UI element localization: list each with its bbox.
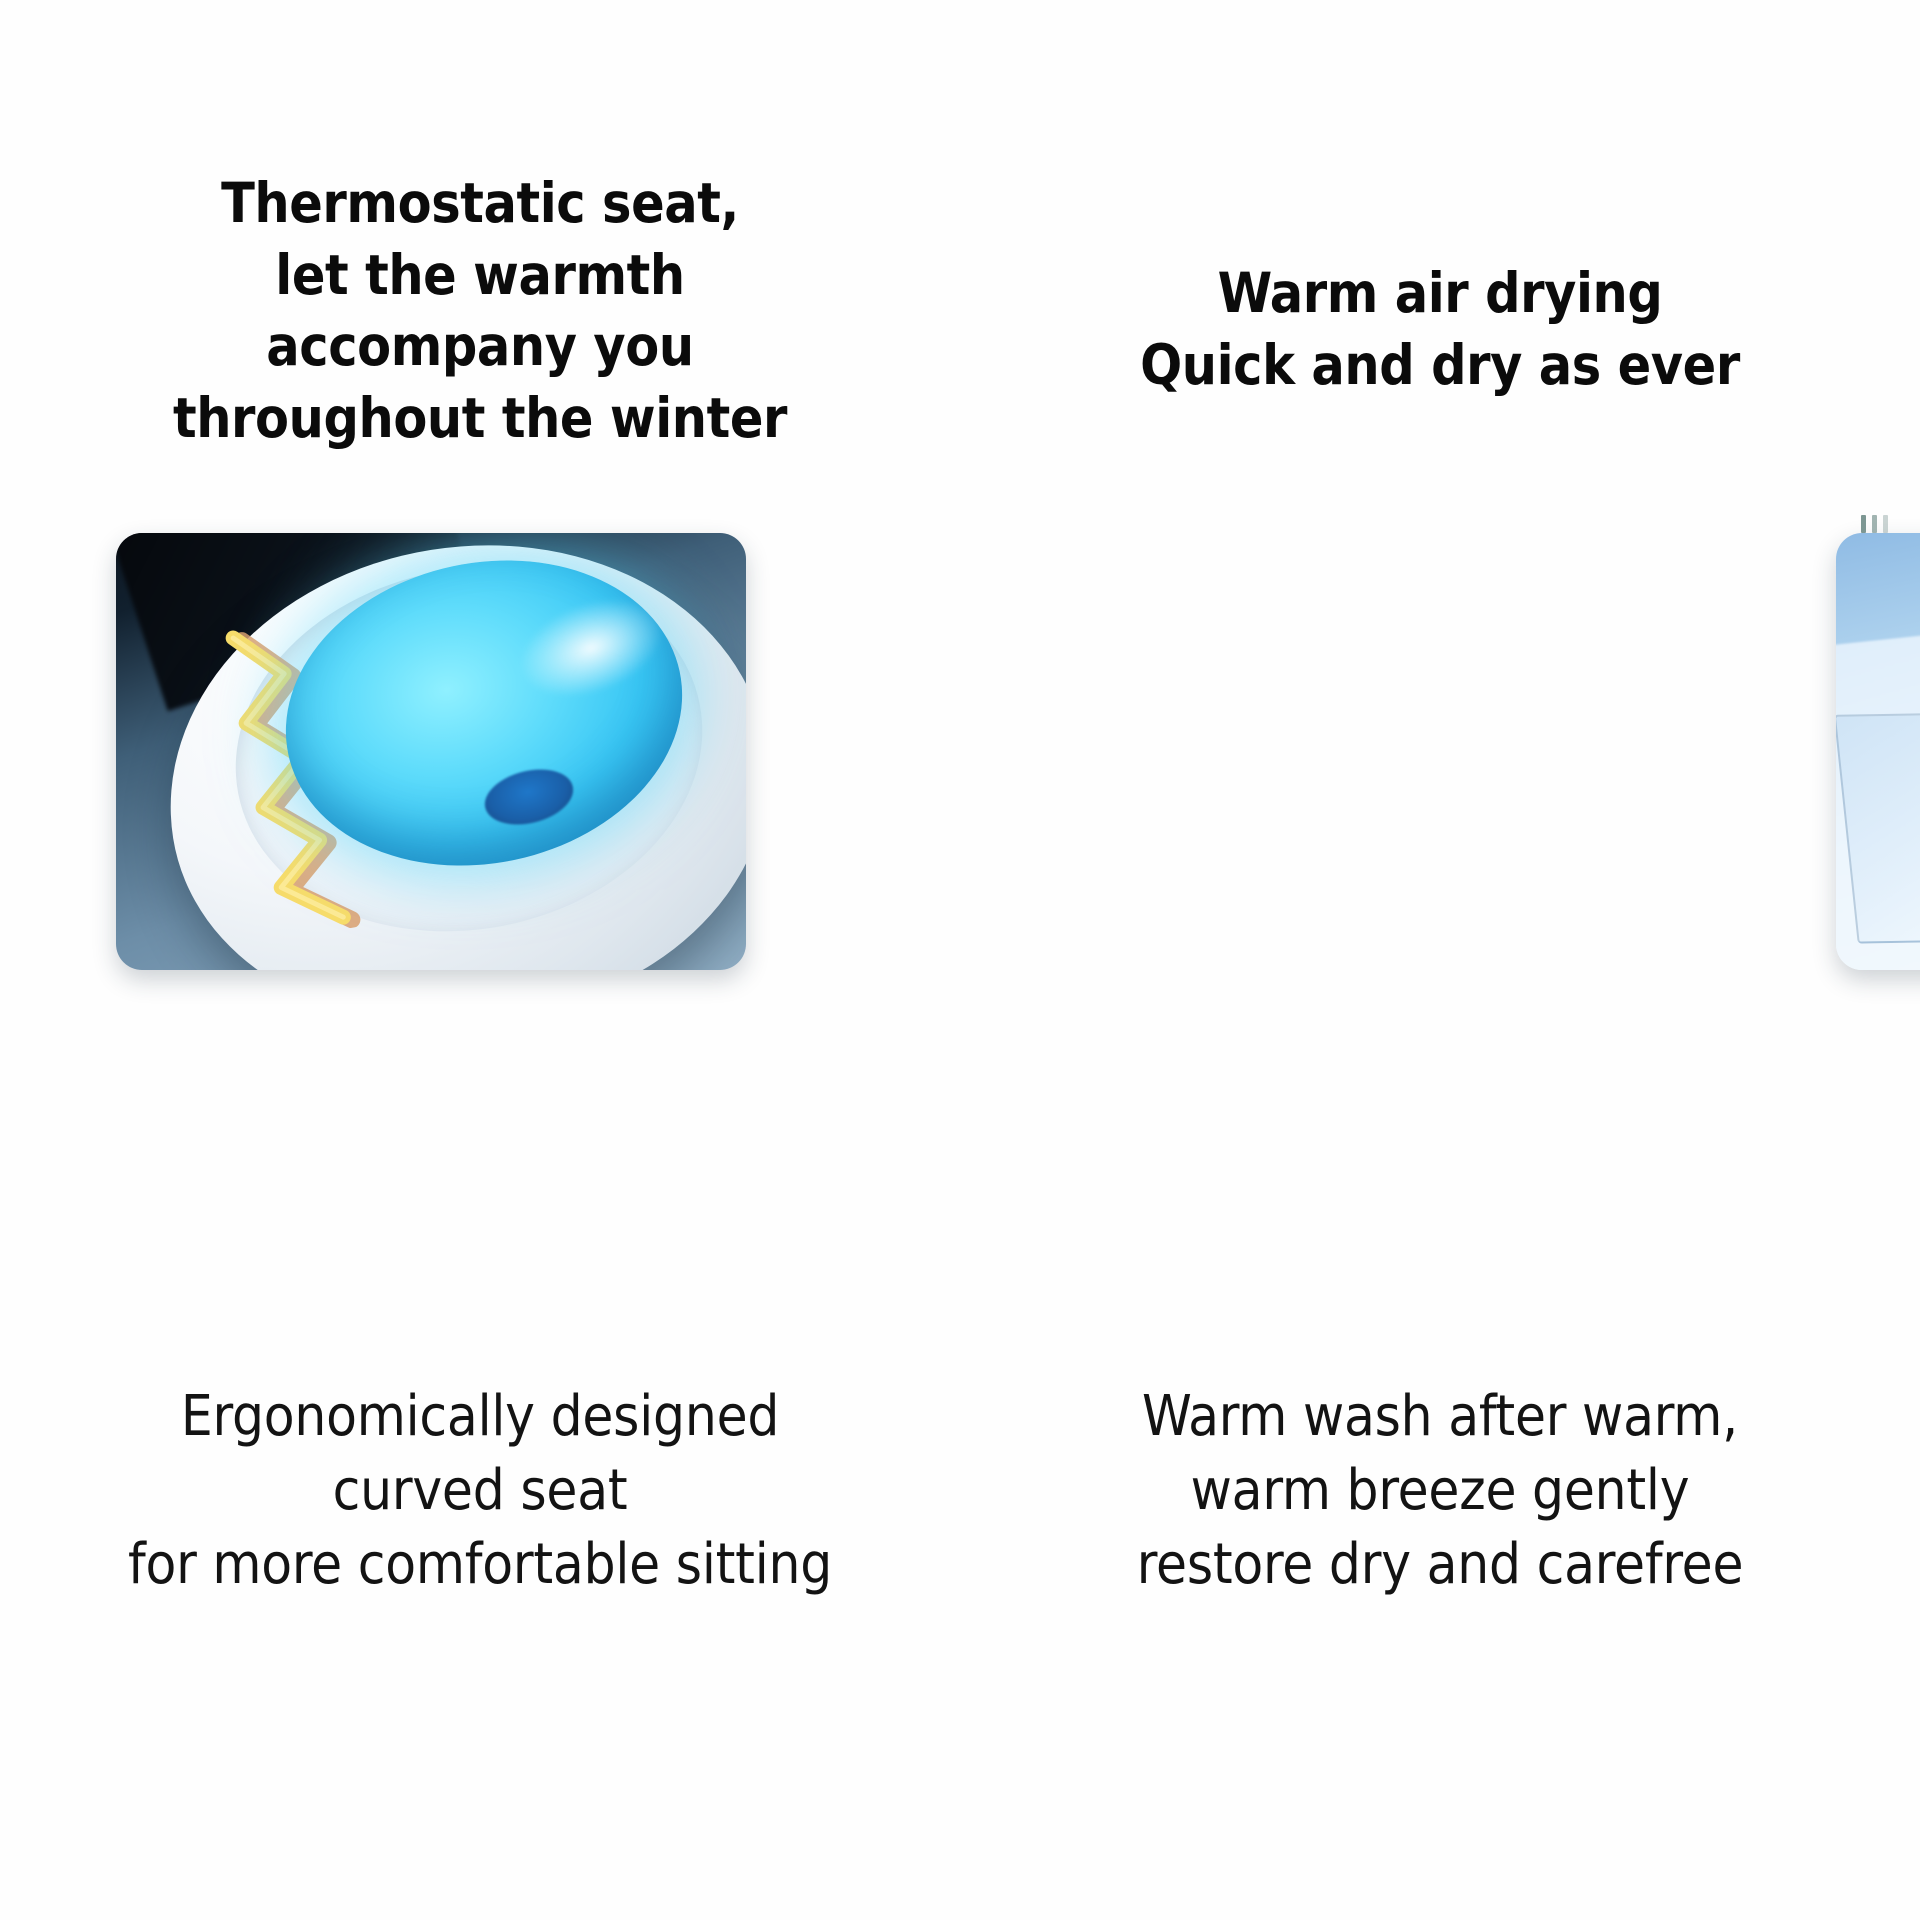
bar-2 xyxy=(1872,515,1877,533)
left-caption: Ergonomically designed curved seat for m… xyxy=(0,1380,960,1602)
left-heading-line-2: let the warmth xyxy=(60,240,900,312)
left-caption-line-3: for more comfortable sitting xyxy=(40,1528,920,1602)
left-heading-line-4: throughout the winter xyxy=(60,383,900,455)
left-caption-line-2: curved seat xyxy=(40,1454,920,1528)
right-feature-panel: Warm air drying Quick and dry as ever xyxy=(960,0,1920,1920)
right-heading: Warm air drying Quick and dry as ever xyxy=(960,258,1920,401)
left-feature-panel: Thermostatic seat, let the warmth accomp… xyxy=(0,0,960,1920)
promo-page: Thermostatic seat, let the warmth accomp… xyxy=(0,0,1920,1920)
heated-seat-image-card xyxy=(116,533,746,970)
left-heading-line-3: accompany you xyxy=(60,311,900,383)
right-caption: Warm wash after warm, warm breeze gently… xyxy=(960,1380,1920,1602)
three-bars-mark-icon xyxy=(1861,515,1888,533)
right-caption-line-1: Warm wash after warm, xyxy=(1000,1380,1880,1454)
bar-3 xyxy=(1883,515,1888,533)
left-heading: Thermostatic seat, let the warmth accomp… xyxy=(0,168,960,454)
left-caption-line-1: Ergonomically designed xyxy=(40,1380,920,1454)
right-caption-line-2: warm breeze gently xyxy=(1000,1454,1880,1528)
airflow-streams-icon xyxy=(1906,563,1920,970)
warm-air-dryer-image-card xyxy=(1836,533,1920,970)
right-heading-line-1: Warm air drying xyxy=(1000,258,1880,330)
left-heading-line-1: Thermostatic seat, xyxy=(60,168,900,240)
bar-1 xyxy=(1861,515,1866,533)
right-caption-line-3: restore dry and carefree xyxy=(1000,1528,1880,1602)
right-heading-line-2: Quick and dry as ever xyxy=(1000,330,1880,402)
